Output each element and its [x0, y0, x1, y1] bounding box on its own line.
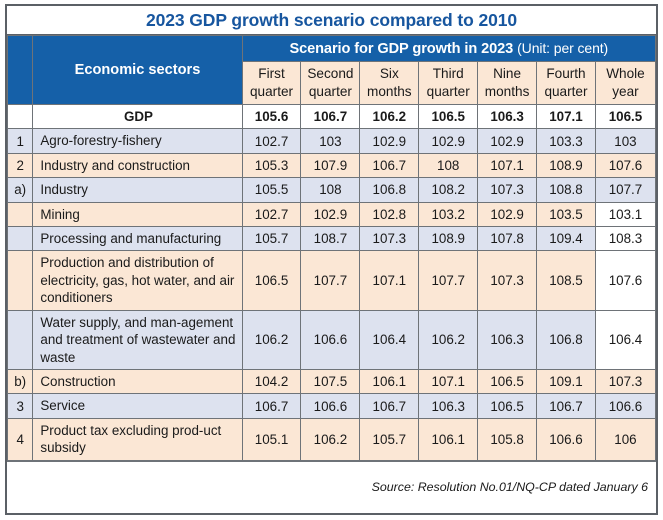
row-value-cell: 103: [301, 129, 360, 153]
header-column-line-2: months: [479, 83, 535, 101]
row-index-cell: [8, 104, 33, 128]
table-head: Economic sectors Scenario for GDP growth…: [8, 36, 656, 105]
row-value-cell: 106.2: [360, 104, 419, 128]
row-value-cell: 107.3: [478, 178, 537, 202]
table-row: Production and distribution of electrici…: [8, 251, 656, 310]
header-column-line-1: Six: [361, 65, 417, 83]
header-column-line-2: quarter: [244, 83, 300, 101]
row-value-cell: 105.5: [242, 178, 301, 202]
row-index-cell: 4: [8, 418, 33, 460]
header-column-1: Firstquarter: [242, 62, 301, 105]
gdp-scenario-table: Economic sectors Scenario for GDP growth…: [7, 35, 656, 461]
row-sector-name: Industry and construction: [33, 153, 242, 177]
header-column-7: Wholeyear: [595, 62, 655, 105]
row-value-cell: 106.1: [360, 369, 419, 393]
row-value-cell: 106.1: [419, 418, 478, 460]
row-sector-name: Production and distribution of electrici…: [33, 251, 242, 310]
table-row: Mining102.7102.9102.8103.2102.9103.5103.…: [8, 202, 656, 226]
row-value-cell: 107.3: [595, 369, 655, 393]
header-column-line-2: quarter: [420, 83, 476, 101]
header-column-3: Sixmonths: [360, 62, 419, 105]
row-index-cell: [8, 251, 33, 310]
row-value-cell: 108.9: [419, 226, 478, 250]
row-value-cell: 108.2: [419, 178, 478, 202]
row-value-cell: 102.9: [478, 202, 537, 226]
row-sector-name: Industry: [33, 178, 242, 202]
table-row: 4Product tax excluding prod-uct subsidy1…: [8, 418, 656, 460]
table-row: a)Industry105.5108106.8108.2107.3108.810…: [8, 178, 656, 202]
row-value-cell: 106.2: [301, 418, 360, 460]
row-sector-name: Processing and manufacturing: [33, 226, 242, 250]
row-value-cell: 108: [301, 178, 360, 202]
row-value-cell: 107.1: [537, 104, 596, 128]
table-footer: Source: Resolution No.01/NQ-CP dated Jan…: [7, 461, 656, 513]
row-value-cell: 102.9: [419, 129, 478, 153]
header-scenario-group: Scenario for GDP growth in 2023 (Unit: p…: [242, 36, 655, 62]
row-value-cell: 105.1: [242, 418, 301, 460]
row-value-cell: 106.5: [419, 104, 478, 128]
row-value-cell: 107.9: [301, 153, 360, 177]
page-title: 2023 GDP growth scenario compared to 201…: [146, 10, 517, 31]
header-row-top: Economic sectors Scenario for GDP growth…: [8, 36, 656, 62]
row-value-cell: 107.5: [301, 369, 360, 393]
header-column-line-1: First: [244, 65, 300, 83]
table-row: b)Construction104.2107.5106.1107.1106.51…: [8, 369, 656, 393]
row-value-cell: 106.7: [242, 394, 301, 418]
row-value-cell: 102.7: [242, 129, 301, 153]
table-figure: 2023 GDP growth scenario compared to 201…: [0, 0, 663, 520]
row-value-cell: 106.3: [419, 394, 478, 418]
row-value-cell: 108.5: [537, 251, 596, 310]
row-value-cell: 103.5: [537, 202, 596, 226]
row-value-cell: 105.8: [478, 418, 537, 460]
row-value-cell: 109.4: [537, 226, 596, 250]
table-row: Water supply, and man-agement and treatm…: [8, 310, 656, 369]
row-value-cell: 107.7: [301, 251, 360, 310]
table-row: 2Industry and construction105.3107.9106.…: [8, 153, 656, 177]
row-value-cell: 107.3: [478, 251, 537, 310]
header-column-line-1: Fourth: [538, 65, 594, 83]
row-value-cell: 106.7: [360, 394, 419, 418]
header-column-line-2: months: [361, 83, 417, 101]
row-value-cell: 103.3: [537, 129, 596, 153]
table-row: GDP105.6106.7106.2106.5106.3107.1106.5: [8, 104, 656, 128]
row-value-cell: 102.7: [242, 202, 301, 226]
row-value-cell: 107.7: [419, 251, 478, 310]
row-value-cell: 106.8: [360, 178, 419, 202]
row-value-cell: 106: [595, 418, 655, 460]
source-note: Source: Resolution No.01/NQ-CP dated Jan…: [372, 480, 648, 494]
row-value-cell: 108.8: [537, 178, 596, 202]
row-index-cell: 2: [8, 153, 33, 177]
row-sector-name: Mining: [33, 202, 242, 226]
table-body: GDP105.6106.7106.2106.5106.3107.1106.51A…: [8, 104, 656, 460]
header-column-line-1: Third: [420, 65, 476, 83]
row-value-cell: 107.3: [360, 226, 419, 250]
row-sector-name: Construction: [33, 369, 242, 393]
row-value-cell: 107.8: [478, 226, 537, 250]
figure-title-bar: 2023 GDP growth scenario compared to 201…: [7, 6, 656, 35]
row-value-cell: 106.6: [595, 394, 655, 418]
row-value-cell: 103.2: [419, 202, 478, 226]
row-value-cell: 108.3: [595, 226, 655, 250]
row-value-cell: 106.5: [595, 104, 655, 128]
header-column-line-1: Second: [302, 65, 358, 83]
row-value-cell: 106.7: [537, 394, 596, 418]
row-value-cell: 106.8: [537, 310, 596, 369]
row-value-cell: 108.7: [301, 226, 360, 250]
row-value-cell: 106.7: [301, 104, 360, 128]
header-scenario-unit: (Unit: per cent): [517, 40, 608, 56]
row-value-cell: 103: [595, 129, 655, 153]
row-value-cell: 106.5: [478, 369, 537, 393]
header-scenario-label: Scenario for GDP growth in 2023: [289, 41, 513, 57]
header-column-line-2: quarter: [302, 83, 358, 101]
row-value-cell: 106.6: [301, 394, 360, 418]
row-value-cell: 105.7: [242, 226, 301, 250]
header-column-4: Thirdquarter: [419, 62, 478, 105]
row-value-cell: 102.9: [360, 129, 419, 153]
header-index-corner: [8, 36, 33, 105]
row-value-cell: 103.1: [595, 202, 655, 226]
row-sector-name: Agro-forestry-fishery: [33, 129, 242, 153]
row-value-cell: 107.6: [595, 153, 655, 177]
row-value-cell: 105.6: [242, 104, 301, 128]
row-value-cell: 102.9: [301, 202, 360, 226]
row-index-cell: b): [8, 369, 33, 393]
row-value-cell: 106.3: [478, 310, 537, 369]
header-column-6: Fourthquarter: [537, 62, 596, 105]
row-value-cell: 102.9: [478, 129, 537, 153]
header-economic-sectors: Economic sectors: [33, 36, 242, 105]
row-value-cell: 104.2: [242, 369, 301, 393]
header-column-line-1: Nine: [479, 65, 535, 83]
header-column-line-2: quarter: [538, 83, 594, 101]
row-value-cell: 106.4: [595, 310, 655, 369]
row-value-cell: 106.4: [360, 310, 419, 369]
row-value-cell: 106.6: [537, 418, 596, 460]
header-column-line-2: year: [597, 83, 654, 101]
row-value-cell: 102.8: [360, 202, 419, 226]
row-value-cell: 108: [419, 153, 478, 177]
row-value-cell: 109.1: [537, 369, 596, 393]
table-row: 3Service106.7106.6106.7106.3106.5106.710…: [8, 394, 656, 418]
row-value-cell: 106.5: [478, 394, 537, 418]
row-index-cell: 1: [8, 129, 33, 153]
row-sector-name: Water supply, and man-agement and treatm…: [33, 310, 242, 369]
row-value-cell: 105.3: [242, 153, 301, 177]
header-column-5: Ninemonths: [478, 62, 537, 105]
row-value-cell: 106.2: [419, 310, 478, 369]
row-value-cell: 107.1: [419, 369, 478, 393]
row-index-cell: [8, 310, 33, 369]
table-row: Processing and manufacturing105.7108.710…: [8, 226, 656, 250]
row-value-cell: 106.2: [242, 310, 301, 369]
header-column-2: Secondquarter: [301, 62, 360, 105]
row-index-cell: [8, 226, 33, 250]
header-column-line-1: Whole: [597, 65, 654, 83]
row-value-cell: 107.1: [360, 251, 419, 310]
row-index-cell: a): [8, 178, 33, 202]
row-value-cell: 108.9: [537, 153, 596, 177]
row-value-cell: 106.7: [360, 153, 419, 177]
row-sector-name: Product tax excluding prod-uct subsidy: [33, 418, 242, 460]
table-row: 1Agro-forestry-fishery102.7103102.9102.9…: [8, 129, 656, 153]
row-value-cell: 106.3: [478, 104, 537, 128]
table-outer-frame: 2023 GDP growth scenario compared to 201…: [5, 4, 658, 515]
row-index-cell: 3: [8, 394, 33, 418]
row-value-cell: 106.5: [242, 251, 301, 310]
row-value-cell: 107.1: [478, 153, 537, 177]
row-value-cell: 107.7: [595, 178, 655, 202]
row-value-cell: 105.7: [360, 418, 419, 460]
row-value-cell: 107.6: [595, 251, 655, 310]
row-sector-name: Service: [33, 394, 242, 418]
row-sector-name: GDP: [33, 104, 242, 128]
row-index-cell: [8, 202, 33, 226]
row-value-cell: 106.6: [301, 310, 360, 369]
